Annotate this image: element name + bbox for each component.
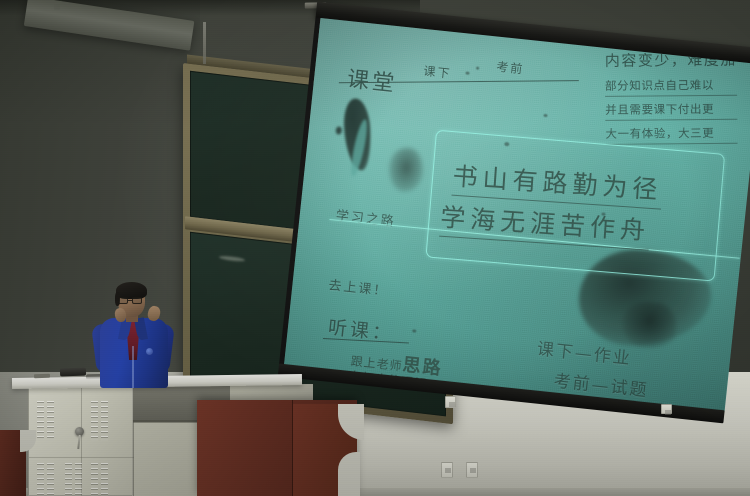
- cabinet-vent-louver: [65, 463, 72, 496]
- cabinet-horizontal-seam: [29, 457, 134, 458]
- cabinet-vent-louver: [75, 463, 82, 496]
- outlet-socket-icon: [470, 468, 476, 473]
- wall-outlet: [466, 462, 478, 478]
- cabinet-vent-louver: [91, 401, 98, 441]
- wall-outlet: [441, 462, 453, 478]
- wall-outlet: [445, 396, 456, 408]
- projected-slide: 课堂 课下 考前 内容变少，难度加 部分知识点自己难以 并且需要课下付出更 大一…: [284, 18, 750, 411]
- presenter-jacket-badge: [146, 348, 153, 355]
- cabinet-vent-louver: [47, 463, 54, 496]
- glasses-icon: [118, 297, 144, 304]
- outlet-socket-icon: [449, 402, 455, 407]
- presenter-jacket-zipper: [132, 346, 134, 388]
- wall-outlet: [661, 404, 672, 414]
- outlet-socket-icon: [665, 410, 671, 415]
- cabinet-vent-louver: [91, 463, 98, 496]
- outlet-socket-icon: [445, 468, 451, 473]
- classroom-scene: 课堂 课下 考前 内容变少，难度加 部分知识点自己难以 并且需要课下付出更 大一…: [0, 0, 750, 496]
- cabinet-vent-louver: [47, 401, 54, 441]
- desk-remote-control[interactable]: [60, 368, 86, 377]
- presenter: [96, 284, 192, 388]
- cabinet-vent-louver: [37, 463, 44, 496]
- glasses-lens-left: [118, 297, 128, 304]
- lectern-panel-seam: [292, 400, 293, 496]
- lectern-bottom-curve-cutout: [338, 452, 360, 496]
- desk-object-small: [34, 374, 50, 379]
- glasses-lens-right: [132, 297, 142, 304]
- projection-screen-unit: 课堂 课下 考前 内容变少，难度加 部分知识点自己难以 并且需要课下付出更 大一…: [280, 0, 750, 438]
- pointer-pole: [203, 22, 206, 64]
- cabinet-vent-louver: [101, 401, 108, 441]
- cabinet-vent-louver: [37, 401, 44, 441]
- cabinet-vent-louver: [101, 463, 108, 496]
- slide-vignette: [284, 18, 750, 411]
- metal-podium-cabinet: [28, 384, 133, 496]
